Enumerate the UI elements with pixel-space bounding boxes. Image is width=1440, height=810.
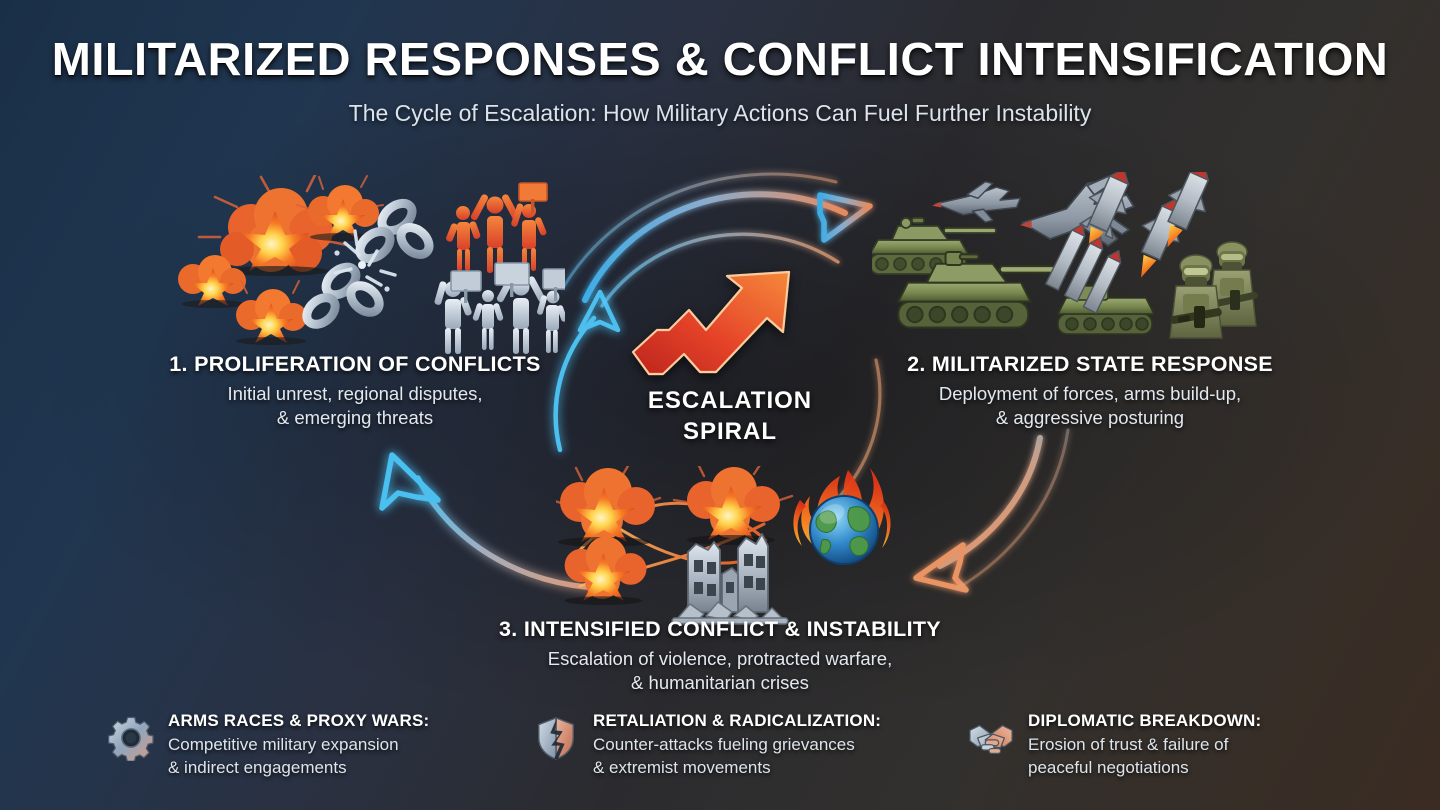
rising-zigzag-arrow-icon [633, 272, 789, 374]
handshake-icon [968, 715, 1014, 761]
stage-3-illustration [556, 466, 916, 626]
missile-launcher-icon [1044, 221, 1154, 334]
arrow-stage2-to-stage3 [916, 438, 1040, 590]
stage-1-heading: 1. PROLIFERATION OF CONFLICTS [75, 352, 635, 377]
infographic-canvas: MILITARIZED RESPONSES & CONFLICT INTENSI… [0, 0, 1440, 810]
stage-2-heading: 2. MILITARIZED STATE RESPONSE [810, 352, 1370, 377]
footer-item-2-line-2: & extremist movements [593, 757, 881, 780]
stage-2-illustration [872, 172, 1272, 356]
cracked-shield-icon [533, 715, 579, 761]
footer-item-3-heading: DIPLOMATIC BREAKDOWN: [1028, 711, 1261, 731]
arrow-stage1-to-stage2 [585, 194, 870, 300]
stage-3-label: 3. INTENSIFIED CONFLICT & INSTABILITY Es… [440, 617, 1000, 694]
stage-1-description: Initial unrest, regional disputes, & eme… [75, 382, 635, 429]
footer-item-2-body: Counter-attacks fueling grievances & ext… [593, 734, 881, 779]
arrow-stage2-to-stage3-outer-trail [958, 430, 1068, 588]
footer-item-1-line-1: Competitive military expansion [168, 734, 429, 757]
stage-1-illustration [175, 175, 565, 355]
arrow-stage1-to-stage2-outer-trail [563, 174, 836, 288]
escalation-spiral-label: ESCALATION SPIRAL [560, 385, 900, 447]
footer-item-3-line-1: Erosion of trust & failure of [1028, 734, 1261, 757]
stage-3-heading: 3. INTENSIFIED CONFLICT & INSTABILITY [440, 617, 1000, 642]
protesters-icon [434, 183, 565, 354]
burning-globe-icon [793, 468, 890, 564]
battle-tank-icon [872, 218, 1066, 328]
footer-item-retaliation: RETALIATION & RADICALIZATION: Counter-at… [533, 711, 881, 779]
footer-item-3-body: Erosion of trust & failure of peaceful n… [1028, 734, 1261, 779]
soldiers-icon [1170, 242, 1259, 338]
footer-item-1-line-2: & indirect engagements [168, 757, 429, 780]
stage-1-desc-line-1: Initial unrest, regional disputes, [75, 382, 635, 406]
header: MILITARIZED RESPONSES & CONFLICT INTENSI… [0, 0, 1440, 127]
footer-item-1-body: Competitive military expansion & indirec… [168, 734, 429, 779]
stage-3-desc-line-2: & humanitarian crises [440, 671, 1000, 695]
escalation-spiral-line-2: SPIRAL [560, 416, 900, 447]
ruined-buildings-icon [672, 534, 788, 624]
page-title: MILITARIZED RESPONSES & CONFLICT INTENSI… [0, 32, 1440, 86]
footer-item-arms-races: ARMS RACES & PROXY WARS: Competitive mil… [108, 711, 429, 779]
stage-1-label: 1. PROLIFERATION OF CONFLICTS Initial un… [75, 352, 635, 429]
stage-3-desc-line-1: Escalation of violence, protracted warfa… [440, 647, 1000, 671]
footer-item-2-line-1: Counter-attacks fueling grievances [593, 734, 881, 757]
footer-factors: ARMS RACES & PROXY WARS: Competitive mil… [0, 703, 1440, 803]
footer-item-3-line-2: peaceful negotiations [1028, 757, 1261, 780]
footer-item-diplomatic-breakdown: DIPLOMATIC BREAKDOWN: Erosion of trust &… [968, 711, 1261, 779]
stage-1-desc-line-2: & emerging threats [75, 406, 635, 430]
escalation-spiral-line-1: ESCALATION [560, 385, 900, 416]
footer-item-1-heading: ARMS RACES & PROXY WARS: [168, 711, 429, 731]
page-subtitle: The Cycle of Escalation: How Military Ac… [0, 100, 1440, 127]
explosion-icon [178, 175, 383, 345]
footer-item-2-heading: RETALIATION & RADICALIZATION: [593, 711, 881, 731]
stage-3-description: Escalation of violence, protracted warfa… [440, 647, 1000, 694]
gear-icon [108, 715, 154, 761]
